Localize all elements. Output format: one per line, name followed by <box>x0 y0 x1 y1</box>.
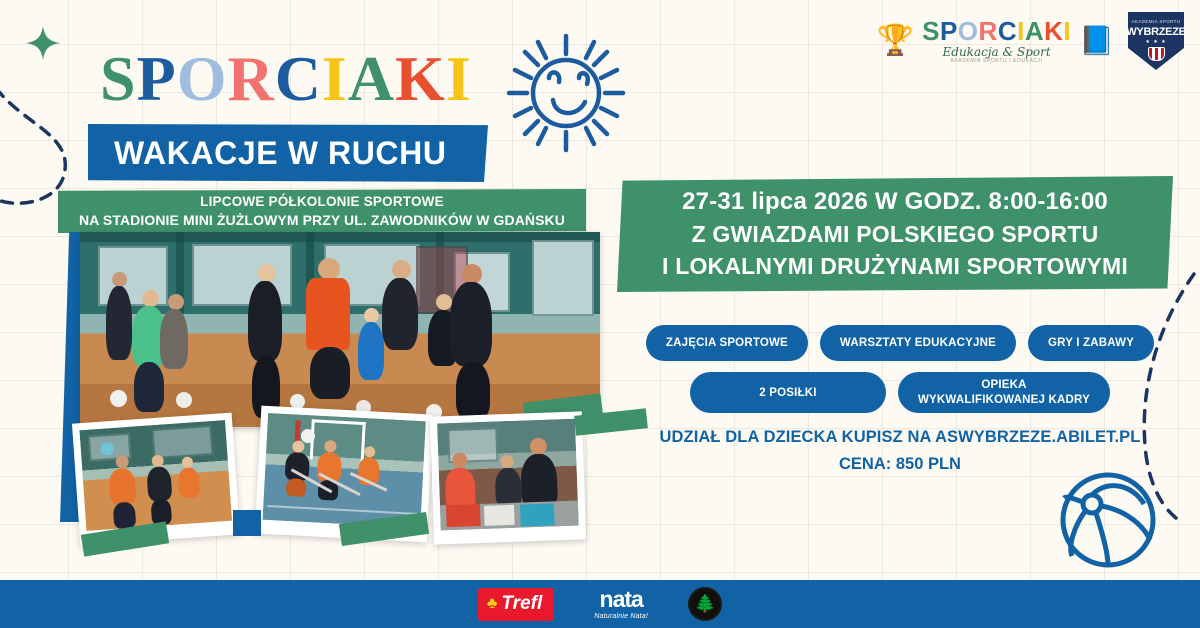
subtitle-line-1: LIPCOWE PÓŁKOLONIE SPORTOWE <box>200 194 444 209</box>
main-headline: WAKACJE W RUCHU <box>114 135 447 172</box>
badge-stars: ★ ★ ★ <box>1145 39 1166 45</box>
feature-pill-row-1: ZAJĘCIA SPORTOWE WARSZTATY EDUKACYJNE GR… <box>620 325 1180 361</box>
logo-tagline-small: AKADEMIA SPORTU I EDUKACJI <box>922 59 1071 64</box>
photo-workshop <box>430 411 586 544</box>
blue-accent-tag <box>233 510 261 536</box>
feature-pill-staff-line-2: WYKWALIFIKOWANEJ KADRY <box>918 393 1090 407</box>
feature-pill-workshops[interactable]: WARSZTATY EDUKACYJNE <box>820 325 1016 361</box>
badge-stripes <box>1148 47 1165 61</box>
feature-pill-group: ZAJĘCIA SPORTOWE WARSZTATY EDUKACYJNE GR… <box>620 325 1180 424</box>
sponsor-nata-sub: Naturalnie Nata! <box>594 613 648 620</box>
cta-price: CENA: 850 PLN <box>620 455 1180 474</box>
sponsor-trefl-label: Trefl <box>501 593 542 615</box>
beach-ball-doodle-icon <box>1056 468 1160 572</box>
feature-pill-staff[interactable]: OPIEKA WYKWALIFIKOWANEJ KADRY <box>898 372 1110 413</box>
event-date-time: 27-31 lipca 2026 W GODZ. 8:00-16:00 <box>682 188 1108 216</box>
logo-wordmark: SPORCIAKI <box>922 18 1071 44</box>
logo-tagline: Edukacja & Sport <box>922 46 1071 58</box>
sponsor-logo-trefl: ♣ Trefl <box>478 588 554 621</box>
trophy-icon: 🏆 <box>877 26 914 56</box>
sparkle-icon <box>26 26 60 60</box>
sponsor-footer: ♣ Trefl nata Naturalnie Nata! 🌲 <box>0 580 1200 628</box>
feature-pill-meals[interactable]: 2 POSIŁKI <box>690 372 886 413</box>
poster-canvas: 🏆 SPORCIAKI Edukacja & Sport AKADEMIA SP… <box>0 0 1200 628</box>
sponsor-nata-label: nata <box>594 588 648 611</box>
feature-pill-games[interactable]: GRY I ZABAWY <box>1028 325 1154 361</box>
feature-pill-staff-line-1: OPIEKA <box>918 378 1090 392</box>
wybrzeze-badge: AKADEMIA SPORTU WYBRZEZE ★ ★ ★ <box>1128 12 1184 70</box>
badge-name: WYBRZEZE <box>1126 26 1185 38</box>
subtitle-banner: LIPCOWE PÓŁKOLONIE SPORTOWE NA STADIONIE… <box>58 189 586 233</box>
event-info-line-2: Z GWIAZDAMI POLSKIEGO SPORTU <box>692 221 1099 248</box>
cta-purchase-text[interactable]: UDZIAŁ DLA DZIECKA KUPISZ NA ASWYBRZEZE.… <box>620 428 1180 447</box>
main-photo <box>80 232 600 427</box>
book-icon: 📘 <box>1079 27 1114 55</box>
badge-top-text: AKADEMIA SPORTU <box>1132 19 1181 24</box>
event-info-line-3: I LOKALNYMI DRUŻYNAMI SPORTOWYMI <box>662 253 1128 280</box>
page-title-wordmark: SPORCIAKI <box>100 47 472 111</box>
event-info-banner: 27-31 lipca 2026 W GODZ. 8:00-16:00 Z GW… <box>617 176 1173 292</box>
sponsor-logo-eco: 🌲 <box>688 587 722 621</box>
sponsor-logo-nata: nata Naturalnie Nata! <box>594 588 648 620</box>
sun-doodle-icon <box>505 32 627 154</box>
header-logo-lockup: 🏆 SPORCIAKI Edukacja & Sport AKADEMIA SP… <box>877 12 1184 70</box>
leaf-icon: 🌲 <box>694 594 715 614</box>
cta-block: UDZIAŁ DLA DZIECKA KUPISZ NA ASWYBRZEZE.… <box>620 428 1180 474</box>
clover-icon: ♣ <box>487 595 498 613</box>
feature-pill-sports[interactable]: ZAJĘCIA SPORTOWE <box>646 325 808 361</box>
subtitle-line-2: NA STADIONIE MINI ŻUŻLOWYM PRZY UL. ZAWO… <box>79 212 565 228</box>
sporciaki-logo: 🏆 SPORCIAKI Edukacja & Sport AKADEMIA SP… <box>877 18 1114 64</box>
main-headline-banner: WAKACJE W RUCHU <box>88 124 488 182</box>
feature-pill-row-2: 2 POSIŁKI OPIEKA WYKWALIFIKOWANEJ KADRY <box>620 372 1180 413</box>
